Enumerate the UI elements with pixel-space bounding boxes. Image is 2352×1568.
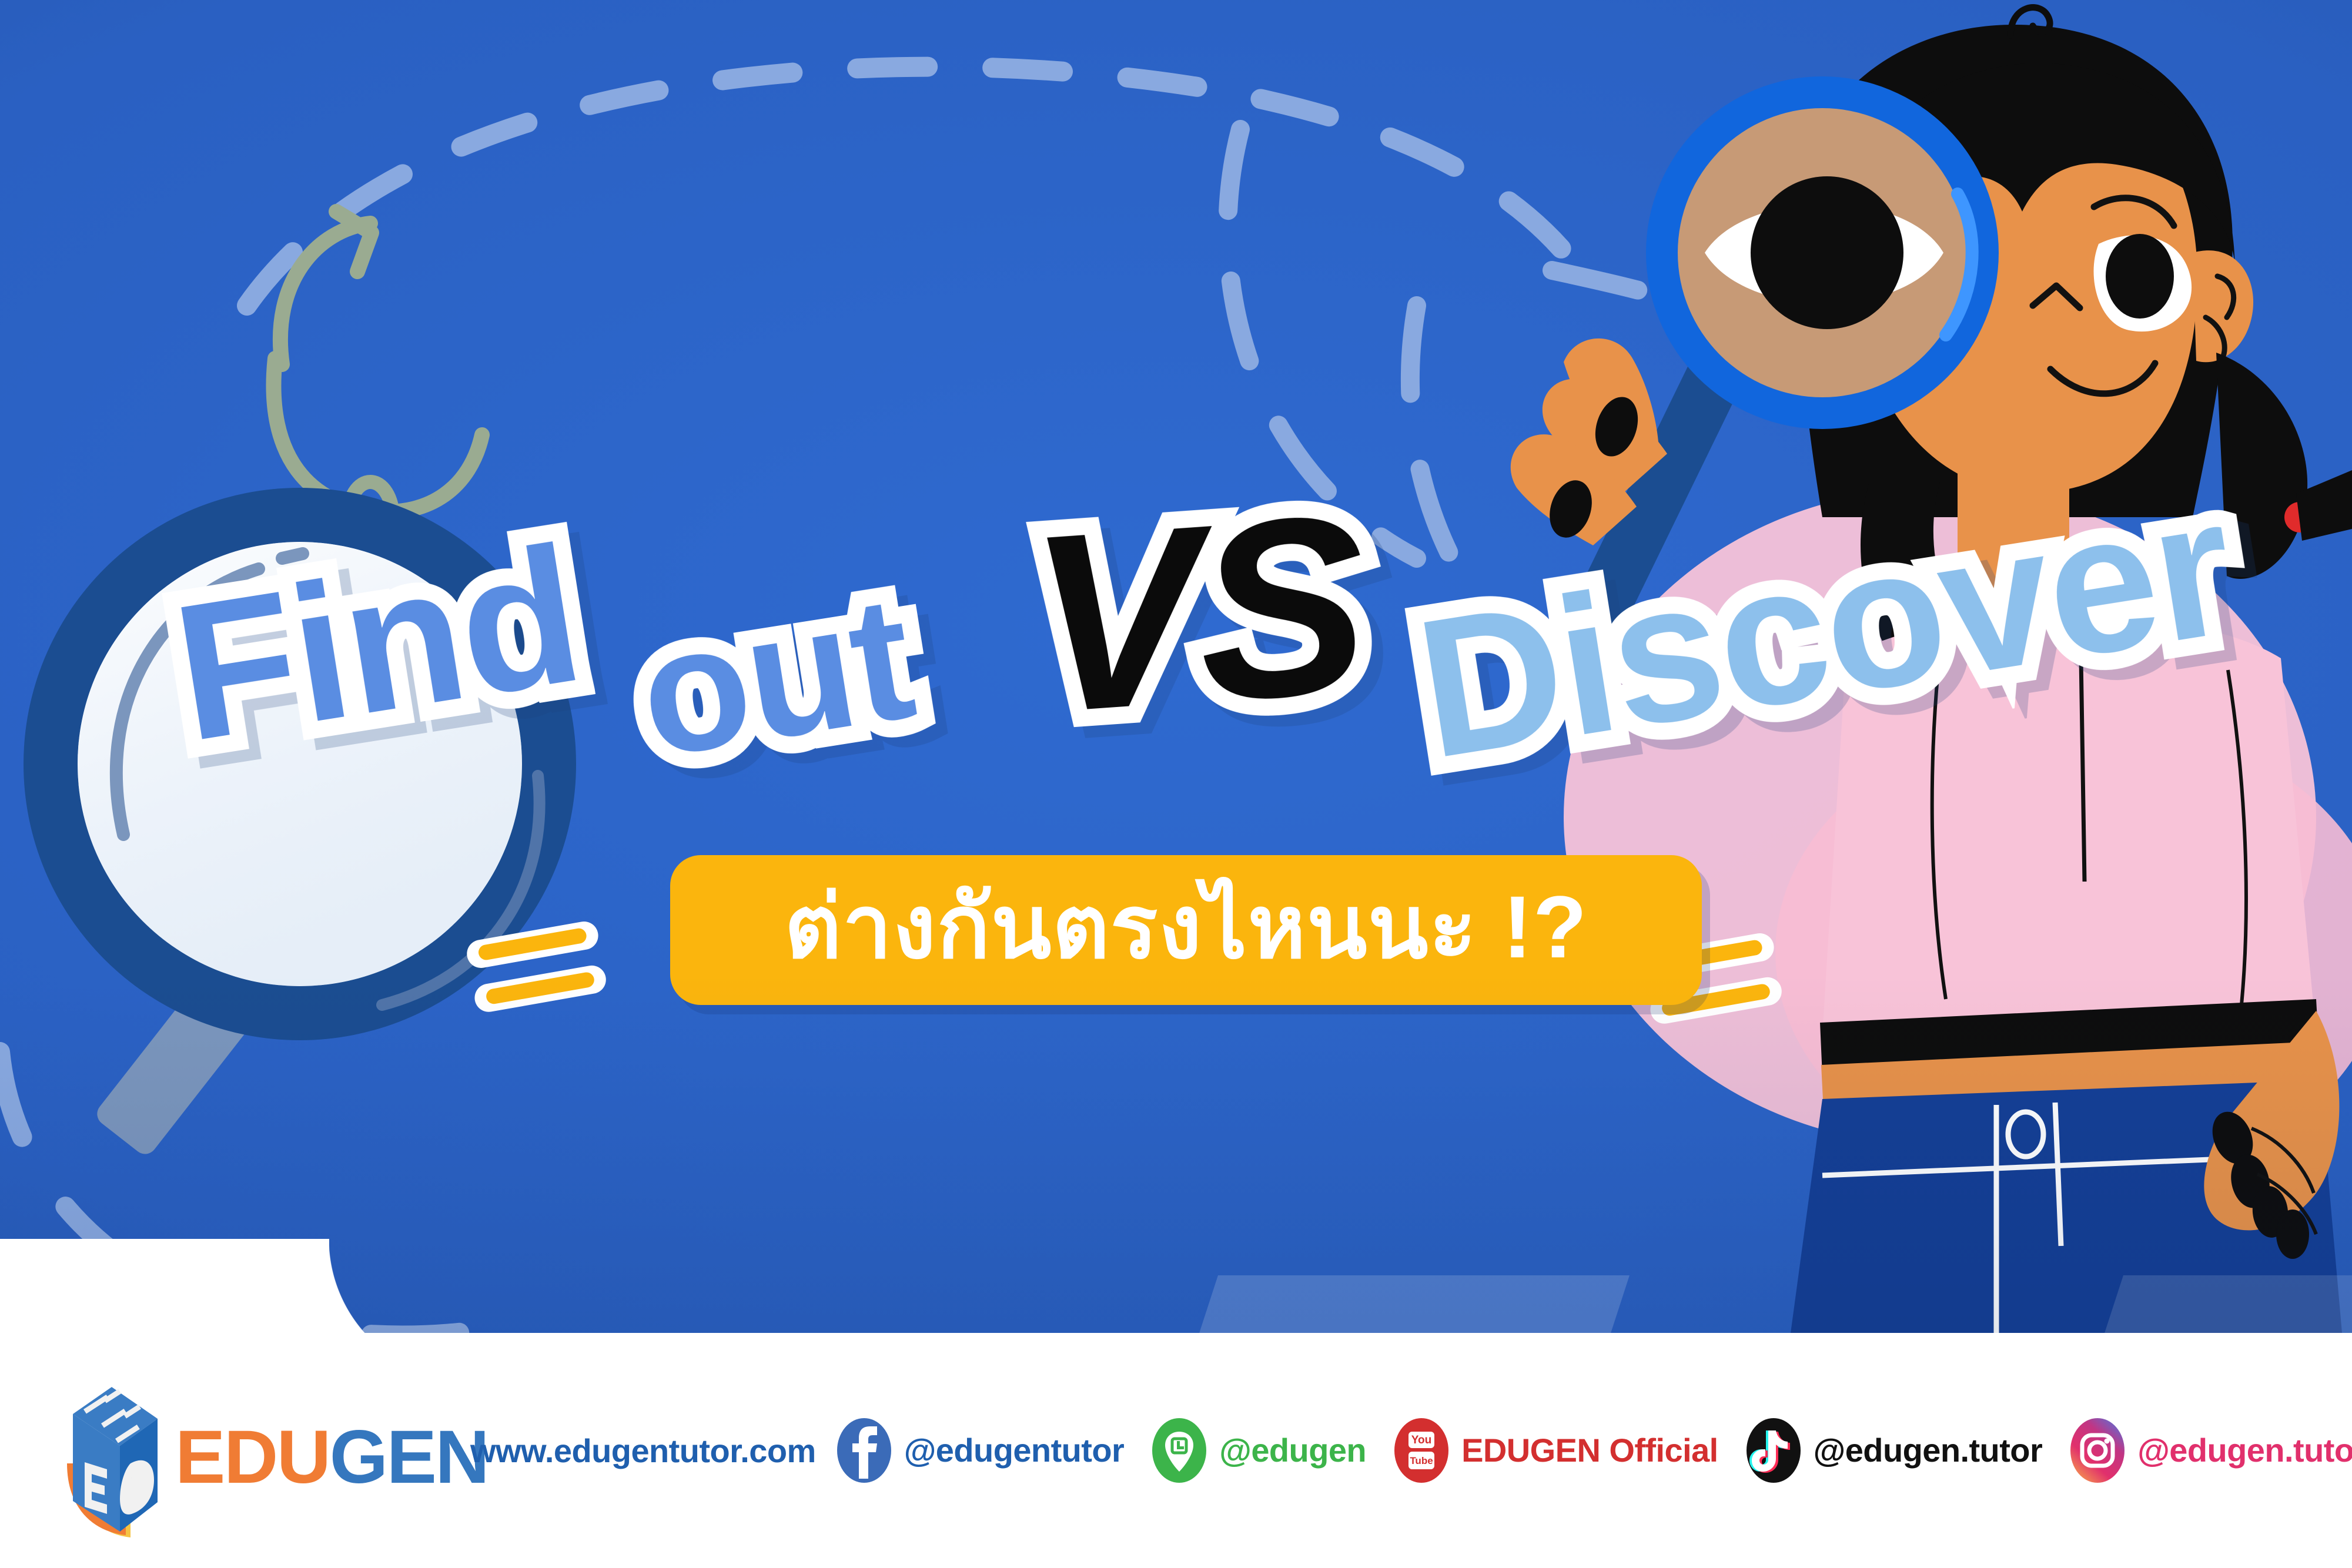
brand-logo[interactable]: EDUGEN — [42, 1369, 430, 1546]
svg-text:Tube: Tube — [1410, 1455, 1433, 1466]
line-handle[interactable]: @edugen — [1219, 1434, 1366, 1467]
website-url[interactable]: www.edugentutor.com — [470, 1432, 816, 1470]
instagram-icon[interactable] — [2069, 1418, 2126, 1483]
footer-notch — [0, 1239, 329, 1333]
logo-gen-text: GEN — [330, 1415, 489, 1499]
edugen-mark-icon — [42, 1375, 183, 1540]
tiktok-icon[interactable] — [1745, 1418, 1802, 1483]
tiktok-handle[interactable]: @edugen.tutor — [1814, 1434, 2043, 1467]
svg-text:You: You — [1411, 1434, 1431, 1446]
logo-edu-text: EDU — [175, 1415, 330, 1499]
social-item-instagram[interactable]: @edugen.tutor — [2069, 1418, 2352, 1483]
poster-root: Find out VS Discover — [0, 0, 2352, 1568]
social-item-tiktok[interactable]: @edugen.tutor — [1745, 1418, 2043, 1483]
facebook-handle[interactable]: @edugentutor — [904, 1434, 1125, 1467]
youtube-icon[interactable]: You Tube — [1393, 1418, 1450, 1483]
facebook-icon[interactable] — [836, 1418, 892, 1483]
line-icon[interactable] — [1151, 1418, 1207, 1483]
instagram-handle[interactable]: @edugen.tutor — [2137, 1434, 2352, 1467]
social-item-youtube[interactable]: You Tube EDUGEN Official — [1393, 1418, 1718, 1483]
logo-wordmark: EDUGEN — [175, 1420, 488, 1495]
social-strip: www.edugentutor.com @edugentutor — [470, 1333, 2352, 1568]
social-item-line[interactable]: @edugen — [1151, 1418, 1366, 1483]
footer-curve — [329, 1239, 470, 1333]
social-item-facebook[interactable]: @edugentutor — [836, 1418, 1125, 1483]
youtube-handle[interactable]: EDUGEN Official — [1461, 1434, 1718, 1467]
